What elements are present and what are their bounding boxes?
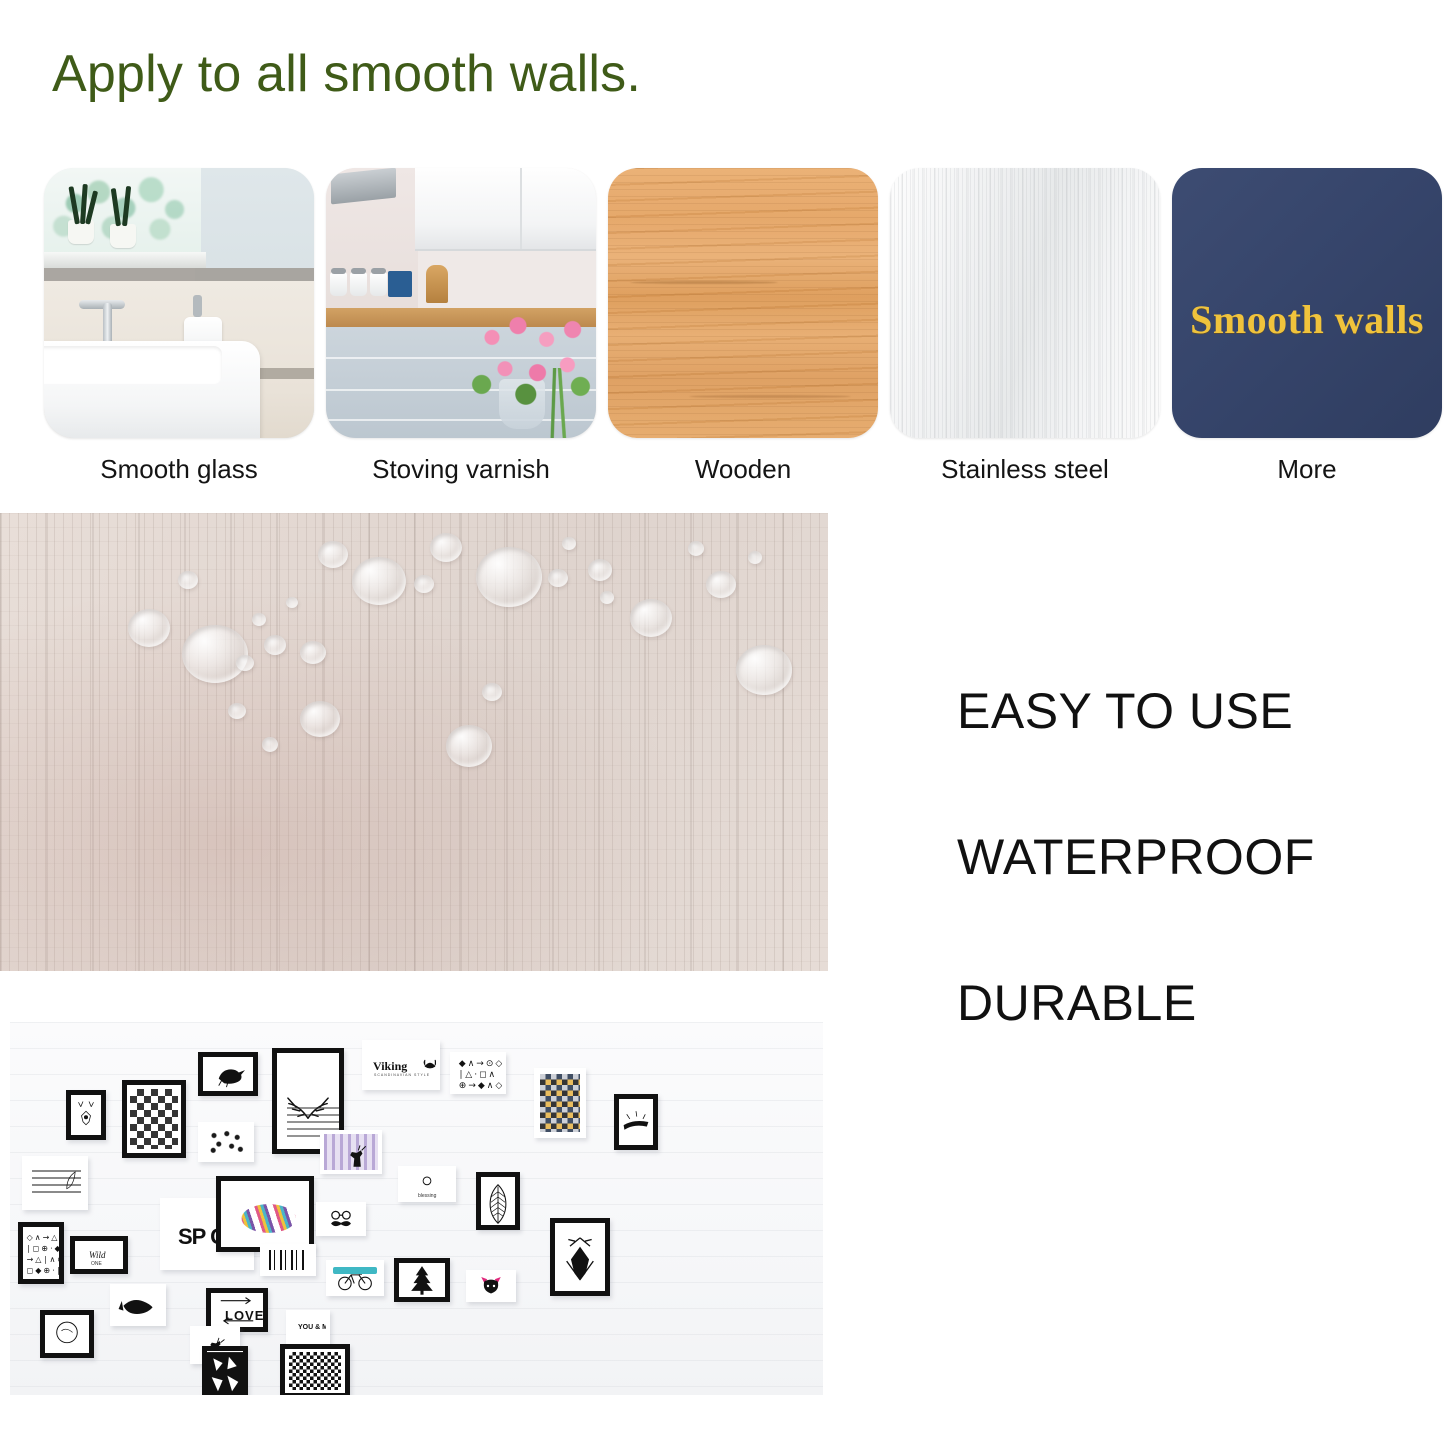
frame-color-checker [534,1068,586,1138]
frame-pine-tree [394,1258,450,1302]
abstract-icon [207,1351,243,1395]
frame-diamond-motif [122,1080,186,1158]
fish-icon [114,1288,162,1322]
leaf-icon [484,1182,512,1225]
pine-tree-icon [399,1263,445,1297]
feature-easy-to-use: EASY TO USE [957,686,1293,736]
feather-icon [64,1170,78,1192]
water-droplet [236,655,254,671]
steel-swatch [890,168,1160,438]
water-droplet [300,641,326,664]
surface-tile-label: More [1172,454,1442,485]
water-droplet [600,591,614,604]
kitchen-photo [326,168,596,438]
water-droplet [588,559,612,581]
frame-moon-line: la lune [40,1310,94,1358]
frame-fish-line [110,1284,166,1326]
water-droplet [562,537,576,550]
surface-tile-label: Smooth glass [44,454,314,485]
frame-deer-head [66,1090,106,1140]
frame-bird [198,1052,258,1096]
deer-silhouette-icon [324,1134,378,1170]
surface-tile-wooden[interactable]: Wooden [608,168,878,438]
water-droplet [630,599,672,637]
water-droplet [736,645,792,695]
deer-geometric-icon [555,1223,605,1291]
brush-stroke-icon [619,1099,653,1145]
dog-icon [470,1274,512,1298]
horned-helmet-icon [422,1058,436,1070]
frame-dog [466,1270,516,1302]
gallery-wall-photo: Viking SCANDINAVIAN STYLE ◆∧→⊙◇∣△⋅◻∧⊕→◆∧… [10,1022,823,1395]
wood-swatch [608,168,878,438]
deer-line-icon [71,1095,101,1135]
water-droplet [300,701,340,737]
moon-icon [45,1315,89,1353]
frame-bicycle [326,1260,384,1296]
love-text: LOVE [225,1309,263,1322]
water-droplet [748,551,762,564]
surface-tile-smooth-glass[interactable]: Smooth glass [44,168,314,438]
surface-tile-label: Stainless steel [890,454,1160,485]
frame-qr-scene [280,1344,350,1395]
frame-you-and-me: YOU & ME [286,1310,330,1344]
frame-circle-quote: blessing [398,1166,456,1202]
feature-durable: DURABLE [957,978,1197,1028]
water-droplet [262,737,278,752]
frame-barcode [260,1244,316,1276]
frame-abstract-cut [202,1346,248,1395]
water-droplet [482,683,502,701]
frame-deer-geometric [550,1218,610,1296]
water-droplet [706,571,736,598]
page-title: Apply to all smooth walls. [52,48,641,100]
mustache-glasses-icon [320,1206,362,1232]
frame-leaf [476,1172,520,1230]
water-droplet [446,725,492,767]
water-droplet [430,533,462,562]
surface-tile-more[interactable]: Smooth walls More [1172,168,1442,438]
water-droplet [414,575,434,593]
water-droplet [318,541,348,568]
smooth-walls-overlay-text: Smooth walls [1150,296,1445,343]
wild-text: Wild [89,1251,106,1260]
water-droplet [252,613,266,626]
you-and-me-text: YOU & ME [298,1324,326,1331]
water-droplet [548,569,568,587]
frame-calligraphy [22,1156,88,1210]
water-droplet [286,597,298,608]
hero-product-photo [0,513,828,971]
frame-brush-stroke [614,1094,658,1150]
surface-tile-stainless-steel[interactable]: Stainless steel [890,168,1160,438]
frame-symbol-grid: ◆∧→⊙◇∣△⋅◻∧⊕→◆∧◇△∣⊙→◻ [450,1052,506,1094]
water-droplet [476,547,542,607]
frame-splatter [198,1122,254,1162]
water-droplet [352,557,406,605]
frame-zebra-colorful [216,1176,314,1252]
feature-waterproof: WATERPROOF [957,832,1315,882]
bird-icon [203,1057,253,1091]
frame-runes: ◇∧→△⊙∣◻⊕⋅◆→△∣∧⊙◻◆⊕⋅∣ [18,1222,64,1284]
surface-tile-label: Wooden [608,454,878,485]
surface-tile-label: Stoving varnish [326,454,596,485]
bathroom-photo [44,168,314,438]
frame-purple-forest [320,1130,382,1174]
water-droplet [264,635,286,655]
frame-mustache [316,1202,366,1236]
frame-viking: Viking SCANDINAVIAN STYLE [362,1040,440,1090]
water-droplet [182,625,248,683]
water-droplet [178,571,198,589]
water-droplet [688,541,704,556]
water-droplet [228,703,246,719]
surface-tile-row: Smooth glass Stoving varnish [44,168,1444,508]
water-droplet [128,609,170,647]
surface-tile-stoving-varnish[interactable]: Stoving varnish [326,168,596,438]
frame-wild-one: Wild ONE [70,1236,128,1274]
